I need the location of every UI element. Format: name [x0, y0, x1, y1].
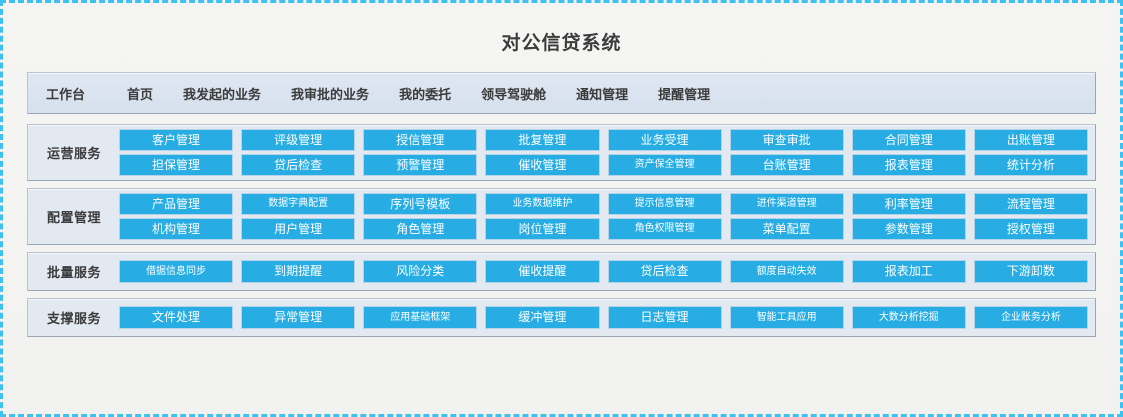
nav-item-1[interactable]: 首页 — [127, 84, 153, 103]
page-canvas: 对公信贷系统 工作台首页我发起的业务我审批的业务我的委托领导驾驶舱通知管理提醒管… — [9, 8, 1114, 409]
nav-item-4[interactable]: 我的委托 — [399, 84, 451, 103]
menu-tile[interactable]: 预警管理 — [364, 155, 476, 175]
menu-tile[interactable]: 大数分析挖掘 — [853, 307, 965, 328]
nav-item-2[interactable]: 我发起的业务 — [183, 84, 261, 103]
menu-tile[interactable]: 缓冲管理 — [486, 307, 598, 328]
menu-tile[interactable]: 日志管理 — [609, 307, 721, 328]
main-navigation-bar: 工作台首页我发起的业务我审批的业务我的委托领导驾驶舱通知管理提醒管理 — [27, 72, 1096, 114]
section-tile-grid-0: 客户管理评级管理授信管理批复管理业务受理审查审批合同管理出账管理担保管理贷后检查… — [120, 130, 1087, 175]
menu-tile[interactable]: 报表加工 — [853, 261, 965, 282]
menu-tile[interactable]: 出账管理 — [975, 130, 1087, 150]
menu-tile[interactable]: 下游卸数 — [975, 261, 1087, 282]
menu-tile[interactable]: 序列号模板 — [364, 194, 476, 214]
menu-tile[interactable]: 提示信息管理 — [609, 194, 721, 214]
menu-tile[interactable]: 产品管理 — [120, 194, 232, 214]
menu-tile[interactable]: 智能工具应用 — [731, 307, 843, 328]
menu-tile[interactable]: 进件渠道管理 — [731, 194, 843, 214]
page-title: 对公信贷系统 — [9, 8, 1114, 72]
menu-tile[interactable]: 到期提醒 — [242, 261, 354, 282]
section-panel-1: 配置管理产品管理数据字典配置序列号模板业务数据维护提示信息管理进件渠道管理利率管… — [27, 188, 1096, 245]
nav-item-6[interactable]: 通知管理 — [576, 84, 628, 103]
menu-tile[interactable]: 应用基础框架 — [364, 307, 476, 328]
menu-tile[interactable]: 风险分类 — [364, 261, 476, 282]
nav-item-7[interactable]: 提醒管理 — [658, 84, 710, 103]
menu-tile[interactable]: 业务数据维护 — [486, 194, 598, 214]
menu-tile[interactable]: 异常管理 — [242, 307, 354, 328]
nav-item-0[interactable]: 工作台 — [46, 84, 85, 103]
menu-tile[interactable]: 台账管理 — [731, 155, 843, 175]
section-panel-0: 运营服务客户管理评级管理授信管理批复管理业务受理审查审批合同管理出账管理担保管理… — [27, 124, 1096, 181]
menu-tile[interactable]: 贷后检查 — [609, 261, 721, 282]
menu-tile[interactable]: 贷后检查 — [242, 155, 354, 175]
app-frame: 对公信贷系统 工作台首页我发起的业务我审批的业务我的委托领导驾驶舱通知管理提醒管… — [0, 0, 1123, 417]
menu-tile[interactable]: 借据信息同步 — [120, 261, 232, 282]
menu-tile[interactable]: 机构管理 — [120, 219, 232, 239]
menu-tile[interactable]: 参数管理 — [853, 219, 965, 239]
menu-tile[interactable]: 授信管理 — [364, 130, 476, 150]
menu-tile[interactable]: 授权管理 — [975, 219, 1087, 239]
menu-tile[interactable]: 统计分析 — [975, 155, 1087, 175]
section-panel-3: 支撑服务文件处理异常管理应用基础框架缓冲管理日志管理智能工具应用大数分析挖掘企业… — [27, 298, 1096, 337]
menu-tile[interactable]: 数据字典配置 — [242, 194, 354, 214]
menu-tile[interactable]: 用户管理 — [242, 219, 354, 239]
menu-tile[interactable]: 评级管理 — [242, 130, 354, 150]
section-tile-grid-3: 文件处理异常管理应用基础框架缓冲管理日志管理智能工具应用大数分析挖掘企业账务分析 — [120, 307, 1087, 328]
menu-tile[interactable]: 角色管理 — [364, 219, 476, 239]
menu-tile[interactable]: 合同管理 — [853, 130, 965, 150]
section-label-0: 运营服务 — [28, 143, 120, 162]
menu-tile[interactable]: 报表管理 — [853, 155, 965, 175]
nav-item-5[interactable]: 领导驾驶舱 — [481, 84, 546, 103]
menu-tile[interactable]: 催收提醒 — [486, 261, 598, 282]
menu-tile[interactable]: 催收管理 — [486, 155, 598, 175]
sections-container: 运营服务客户管理评级管理授信管理批复管理业务受理审查审批合同管理出账管理担保管理… — [9, 124, 1114, 344]
section-tile-grid-1: 产品管理数据字典配置序列号模板业务数据维护提示信息管理进件渠道管理利率管理流程管… — [120, 194, 1087, 239]
menu-tile[interactable]: 批复管理 — [486, 130, 598, 150]
menu-tile[interactable]: 企业账务分析 — [975, 307, 1087, 328]
menu-tile[interactable]: 审查审批 — [731, 130, 843, 150]
menu-tile[interactable]: 菜单配置 — [731, 219, 843, 239]
nav-item-3[interactable]: 我审批的业务 — [291, 84, 369, 103]
section-label-1: 配置管理 — [28, 207, 120, 226]
menu-tile[interactable]: 岗位管理 — [486, 219, 598, 239]
menu-tile[interactable]: 角色权限管理 — [609, 219, 721, 239]
menu-tile[interactable]: 文件处理 — [120, 307, 232, 328]
menu-tile[interactable]: 担保管理 — [120, 155, 232, 175]
menu-tile[interactable]: 流程管理 — [975, 194, 1087, 214]
menu-tile[interactable]: 业务受理 — [609, 130, 721, 150]
section-panel-2: 批量服务借据信息同步到期提醒风险分类催收提醒贷后检查额度自动失效报表加工下游卸数 — [27, 252, 1096, 291]
section-label-2: 批量服务 — [28, 262, 120, 281]
menu-tile[interactable]: 客户管理 — [120, 130, 232, 150]
menu-tile[interactable]: 利率管理 — [853, 194, 965, 214]
menu-tile[interactable]: 额度自动失效 — [731, 261, 843, 282]
section-label-3: 支撑服务 — [28, 308, 120, 327]
section-tile-grid-2: 借据信息同步到期提醒风险分类催收提醒贷后检查额度自动失效报表加工下游卸数 — [120, 261, 1087, 282]
menu-tile[interactable]: 资产保全管理 — [609, 155, 721, 175]
